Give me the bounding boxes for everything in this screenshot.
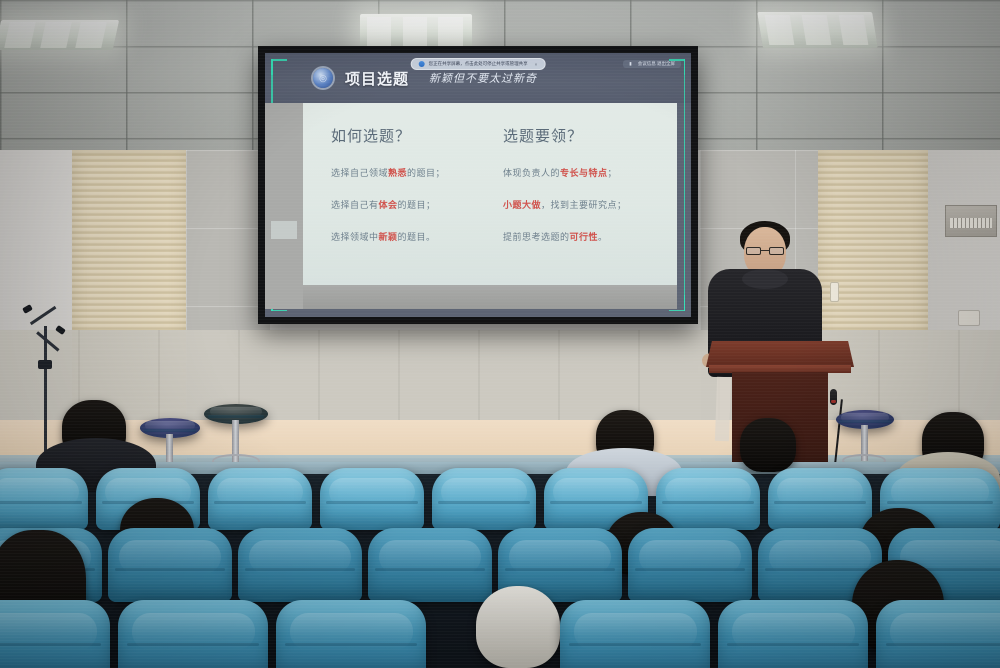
bullet-item: 小题大做，找到主要研究点； xyxy=(503,198,655,211)
seat[interactable] xyxy=(718,600,868,668)
seat[interactable] xyxy=(208,468,312,530)
podium-top-surface xyxy=(706,341,854,367)
bullet-pre: 提前思考选题的 xyxy=(503,232,570,242)
mic-stand-boom-upper xyxy=(30,306,56,325)
seat[interactable] xyxy=(656,468,760,530)
microphone-icon xyxy=(22,304,33,314)
slide-body: 如何选题？ 选择自己领域熟悉的题目； 选择自己有体会的题目； 选择领域中新颖的题… xyxy=(303,103,677,285)
slide-gutter-notch xyxy=(271,221,297,239)
eyeglasses-icon xyxy=(746,247,784,255)
seat[interactable] xyxy=(276,600,426,668)
stool-purple-right[interactable] xyxy=(836,410,894,470)
slide-bottom-band xyxy=(303,285,677,309)
slide-column-left: 如何选题？ 选择自己领域熟悉的题目； 选择自己有体会的题目； 选择领域中新颖的题… xyxy=(331,125,483,285)
bullet-highlight: 可行性 xyxy=(570,232,599,242)
screen-share-toast[interactable]: 您正在共享屏幕，点击此处可停止共享或管理共享 × xyxy=(411,58,546,70)
bullet-pre: 选择领域中 xyxy=(331,232,379,242)
share-border-edge xyxy=(684,59,686,311)
bullet-highlight: 体会 xyxy=(379,200,398,210)
wall-outlet[interactable] xyxy=(958,310,980,326)
column-heading: 选题要领？ xyxy=(503,125,655,146)
bullet-pre: 选择自己有 xyxy=(331,200,379,210)
projection-screen[interactable]: ◎ 项目选题 新颖但不要太过新奇 您正在共享屏幕，点击此处可停止共享或管理共享 … xyxy=(258,46,698,324)
bullet-post: ，找到主要研究点； xyxy=(541,200,627,210)
bullet-item: 提前思考选题的可行性。 xyxy=(503,230,655,243)
electrical-panel xyxy=(945,205,997,237)
seat[interactable] xyxy=(118,600,268,668)
microphone-icon xyxy=(830,389,837,405)
university-emblem-icon: ◎ xyxy=(313,68,333,88)
seat[interactable] xyxy=(768,468,872,530)
seat[interactable] xyxy=(876,600,1000,668)
bullet-post: ； xyxy=(608,168,618,178)
bullet-highlight: 专长与特点 xyxy=(560,168,608,178)
participants-icon: ▮ xyxy=(629,61,631,67)
bullet-highlight: 小题大做 xyxy=(503,200,541,210)
bullet-post: 的题目； xyxy=(398,200,436,210)
share-border-mark xyxy=(271,59,287,61)
bullet-pre: 体现负责人的 xyxy=(503,168,560,178)
mic-stand-boom-lower xyxy=(36,331,59,351)
bullet-highlight: 新颖 xyxy=(379,232,398,242)
close-icon[interactable]: × xyxy=(535,62,538,67)
seat[interactable] xyxy=(108,528,232,602)
seat[interactable] xyxy=(560,600,710,668)
mic-stand-clamp xyxy=(38,360,52,369)
seat[interactable] xyxy=(368,528,492,602)
seat[interactable] xyxy=(0,468,88,530)
bullet-item: 选择自己有体会的题目； xyxy=(331,198,483,211)
seat[interactable] xyxy=(238,528,362,602)
seat[interactable] xyxy=(320,468,424,530)
slide-column-right: 选题要领？ 体现负责人的专长与特点； 小题大做，找到主要研究点； 提前思考选题的… xyxy=(503,125,655,285)
bullet-post: 的题目； xyxy=(407,168,445,178)
seat[interactable] xyxy=(432,468,536,530)
screen-share-toast-text: 您正在共享屏幕，点击此处可停止共享或管理共享 xyxy=(429,61,528,67)
slide-left-gutter xyxy=(265,103,303,309)
screen-share-icon xyxy=(419,61,425,67)
slide-subtitle: 新颖但不要太过新奇 xyxy=(429,70,537,86)
bullet-item: 选择自己领域熟悉的题目； xyxy=(331,166,483,179)
screen-surface: ◎ 项目选题 新颖但不要太过新奇 您正在共享屏幕，点击此处可停止共享或管理共享 … xyxy=(265,53,691,317)
audience-fur-hood xyxy=(476,586,560,668)
lecture-hall-photo: ◎ 项目选题 新颖但不要太过新奇 您正在共享屏幕，点击此处可停止共享或管理共享 … xyxy=(0,0,1000,668)
meeting-bar-text: 会议信息 退出全屏 xyxy=(638,61,675,67)
seat[interactable] xyxy=(628,528,752,602)
presenter-collar xyxy=(742,269,788,289)
bullet-pre: 选择自己领域 xyxy=(331,168,388,178)
microphone-icon xyxy=(55,325,66,335)
bullet-highlight: 熟悉 xyxy=(388,168,407,178)
column-heading: 如何选题？ xyxy=(331,125,483,146)
share-border-mark xyxy=(271,310,287,312)
bullet-item: 选择领域中新颖的题目。 xyxy=(331,230,483,243)
bullet-post: 。 xyxy=(598,232,608,242)
bullet-item: 体现负责人的专长与特点； xyxy=(503,166,655,179)
meeting-info-bar[interactable]: ▮ 会议信息 退出全屏 xyxy=(623,60,681,68)
podium-papers xyxy=(715,377,731,441)
slide-title: 项目选题 xyxy=(345,68,409,89)
audience-head xyxy=(740,418,796,472)
seat[interactable] xyxy=(0,600,110,668)
bullet-post: 的题目。 xyxy=(398,232,436,242)
